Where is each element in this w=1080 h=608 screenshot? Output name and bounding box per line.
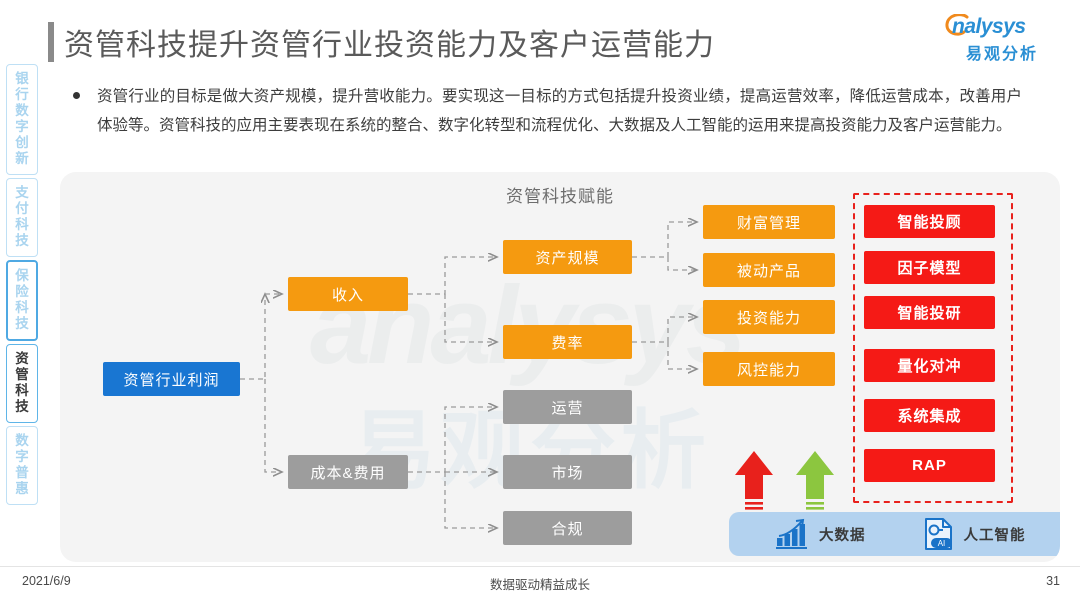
- node-label: 资产规模: [535, 247, 599, 268]
- node-label: 资管行业利润: [123, 369, 219, 390]
- node-label: 智能投顾: [897, 211, 961, 232]
- bullet-paragraph: 资管行业的目标是做大资产规模，提升营收能力。要实现这一目标的方式包括提升投资业绩…: [97, 82, 1022, 140]
- diagram-card: 资管科技赋能 analysys 易观分析: [60, 172, 1060, 562]
- green-up-arrow-icon: [793, 449, 837, 515]
- banner-item-big-data[interactable]: 大数据: [775, 518, 866, 550]
- page-title: 资管科技提升资管行业投资能力及客户运营能力: [64, 20, 715, 64]
- sidebar-item-label: 支付科技: [7, 185, 37, 249]
- slide-root: 资管科技提升资管行业投资能力及客户运营能力 nalysys 易观分析 资管行业的…: [0, 0, 1080, 608]
- bar-chart-growth-icon: [775, 518, 809, 550]
- banner-label: 大数据: [819, 524, 866, 545]
- node-label: 成本&费用: [310, 462, 385, 483]
- sidebar: 银行数字创新 支付科技 保险科技 资管科技 数字普惠: [6, 64, 40, 508]
- node-fee-rate[interactable]: 费率: [503, 325, 632, 359]
- node-label: 运营: [551, 397, 583, 418]
- sidebar-item-label: 银行数字创新: [7, 71, 37, 167]
- footer-page-number: 31: [1046, 574, 1060, 588]
- node-label: 被动产品: [737, 260, 801, 281]
- node-label: 因子模型: [897, 257, 961, 278]
- sidebar-item-inclusive-finance[interactable]: 数字普惠: [6, 426, 38, 505]
- node-label: 量化对冲: [897, 355, 961, 376]
- node-label: 市场: [551, 462, 583, 483]
- footer-divider: [0, 566, 1080, 567]
- node-label: 系统集成: [897, 405, 961, 426]
- node-label: 费率: [551, 332, 583, 353]
- node-cost-and-expense[interactable]: 成本&费用: [288, 455, 408, 489]
- bullet-marker-icon: [73, 92, 80, 99]
- node-label: 智能投研: [897, 302, 961, 323]
- node-asset-management-profit[interactable]: 资管行业利润: [103, 362, 240, 396]
- ai-document-icon: AI: [922, 517, 954, 551]
- node-passive-products[interactable]: 被动产品: [703, 253, 835, 287]
- banner-item-ai[interactable]: AI 人工智能: [922, 517, 1026, 551]
- sidebar-item-label: 数字普惠: [7, 433, 37, 497]
- sidebar-item-asset-management[interactable]: 资管科技: [6, 344, 38, 423]
- node-market[interactable]: 市场: [503, 455, 632, 489]
- analysys-logo: nalysys 易观分析: [938, 14, 1058, 66]
- logo-wordmark: nalysys: [952, 15, 1026, 39]
- node-operations[interactable]: 运营: [503, 390, 632, 424]
- node-compliance[interactable]: 合规: [503, 511, 632, 545]
- node-revenue[interactable]: 收入: [288, 277, 408, 311]
- footer-slogan: 数据驱动精益成长: [0, 574, 1080, 593]
- logo-chinese-name: 易观分析: [966, 40, 1038, 64]
- node-factor-model[interactable]: 因子模型: [864, 251, 995, 284]
- node-label: 投资能力: [737, 307, 801, 328]
- node-investment-capability[interactable]: 投资能力: [703, 300, 835, 334]
- banner-label: 人工智能: [964, 524, 1026, 545]
- red-up-arrow-icon: [732, 449, 776, 515]
- node-robo-advisor[interactable]: 智能投顾: [864, 205, 995, 238]
- node-label: 财富管理: [737, 212, 801, 233]
- node-asset-scale[interactable]: 资产规模: [503, 240, 632, 274]
- node-label: 收入: [332, 284, 364, 305]
- title-accent-bar: [48, 22, 54, 62]
- node-risk-control-capability[interactable]: 风控能力: [703, 352, 835, 386]
- node-rap[interactable]: RAP: [864, 449, 995, 482]
- sidebar-item-payment[interactable]: 支付科技: [6, 178, 38, 257]
- node-system-integration[interactable]: 系统集成: [864, 399, 995, 432]
- svg-text:AI: AI: [937, 539, 945, 548]
- node-label: RAP: [912, 457, 947, 474]
- sidebar-item-insurance[interactable]: 保险科技: [6, 260, 38, 341]
- sidebar-item-label: 资管科技: [7, 351, 37, 415]
- node-label: 风控能力: [737, 359, 801, 380]
- enabler-banner: 大数据 AI 人工智能: [729, 512, 1060, 556]
- node-smart-research[interactable]: 智能投研: [864, 296, 995, 329]
- sidebar-item-banking[interactable]: 银行数字创新: [6, 64, 38, 175]
- node-quant-hedging[interactable]: 量化对冲: [864, 349, 995, 382]
- node-wealth-management[interactable]: 财富管理: [703, 205, 835, 239]
- node-label: 合规: [551, 518, 583, 539]
- sidebar-item-label: 保险科技: [8, 268, 36, 332]
